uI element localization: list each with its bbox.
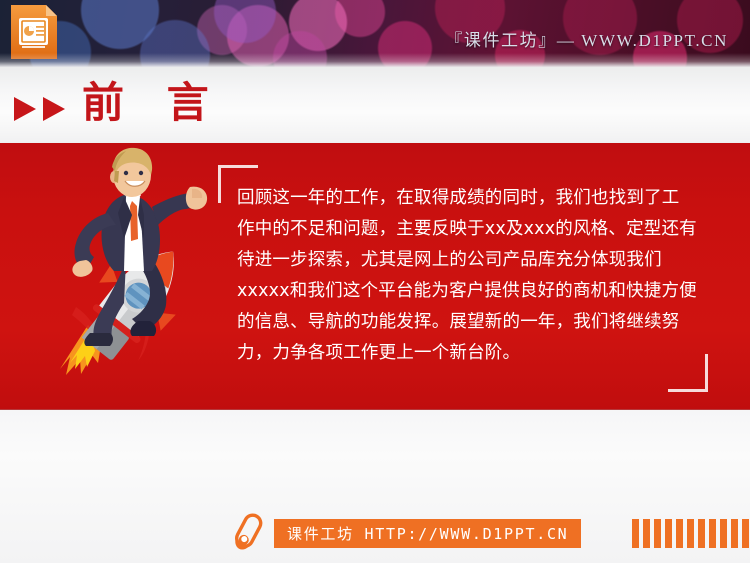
powerpoint-document-icon xyxy=(8,3,60,61)
stripe xyxy=(676,519,683,548)
stripe xyxy=(731,519,738,548)
brand-text: 『课件工坊』— WWW.D1PPT.CN xyxy=(445,26,728,51)
triangle-right-icon xyxy=(43,97,65,121)
businessman-riding-rocket-illustration xyxy=(40,143,215,383)
stripe xyxy=(643,519,650,548)
footer-url-banner[interactable]: 课件工坊 HTTP://WWW.D1PPT.CN xyxy=(274,519,581,548)
title-arrows xyxy=(14,97,65,121)
slide-root: 『课件工坊』— WWW.D1PPT.CN 前 言 xyxy=(0,0,750,563)
stripe xyxy=(687,519,694,548)
stripe xyxy=(709,519,716,548)
stripe xyxy=(742,519,749,548)
footer-url-text: 课件工坊 HTTP://WWW.D1PPT.CN xyxy=(287,523,568,544)
stripe xyxy=(665,519,672,548)
stripe xyxy=(632,519,639,548)
pen-icon xyxy=(231,512,265,552)
stripe xyxy=(720,519,727,548)
page-title: 前 言 xyxy=(82,82,223,124)
triangle-right-icon xyxy=(14,97,36,121)
top-banner: 『课件工坊』— WWW.D1PPT.CN xyxy=(0,0,750,67)
content-panel: 回顾这一年的工作，在取得成绩的同时，我们也找到了工作中的不足和问题，主要反映于x… xyxy=(0,143,750,410)
stripe xyxy=(654,519,661,548)
content-paragraph: 回顾这一年的工作，在取得成绩的同时，我们也找到了工作中的不足和问题，主要反映于x… xyxy=(237,183,697,369)
footer-stripes xyxy=(632,519,750,548)
stripe xyxy=(698,519,705,548)
